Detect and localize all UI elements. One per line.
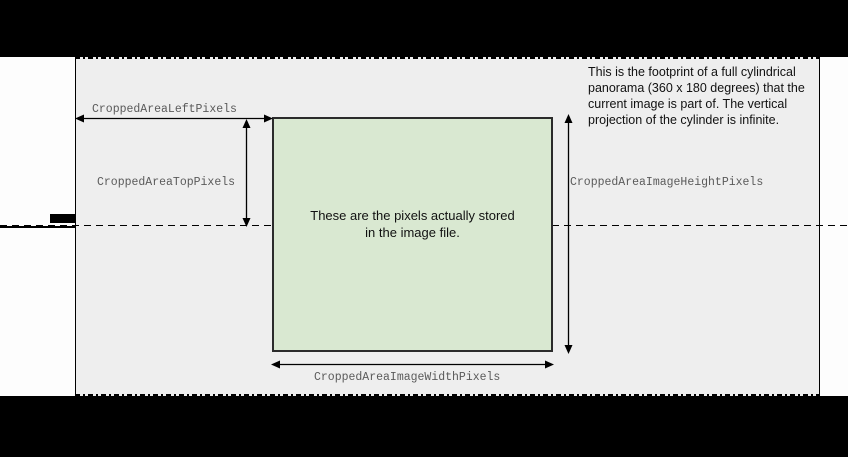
- cropped-area-top-pixels-label: CroppedAreaTopPixels: [97, 176, 235, 189]
- cropped-area-top-pixels-arrow-icon: [241, 119, 252, 227]
- stored-pixels-rectangle: These are the pixels actually stored in …: [272, 117, 553, 352]
- cropped-area-left-pixels-label: CroppedAreaLeftPixels: [92, 103, 237, 116]
- equator-marker-bar-icon: [50, 214, 75, 223]
- stored-pixels-caption-line-1: These are the pixels actually stored: [274, 207, 551, 224]
- panorama-panel-left-border: [75, 57, 76, 396]
- panorama-panel-bottom-border: [75, 394, 820, 396]
- cropped-area-image-width-pixels-arrow-icon: [271, 359, 554, 370]
- diagram-canvas: These are the pixels actually stored in …: [0, 0, 848, 457]
- cropped-area-image-height-pixels-arrow-icon: [563, 114, 574, 354]
- cropped-area-image-height-pixels-label: CroppedAreaImageHeightPixels: [570, 176, 763, 189]
- stored-pixels-caption-line-2: in the image file.: [274, 224, 551, 241]
- stored-pixels-caption: These are the pixels actually stored in …: [274, 207, 551, 241]
- cropped-area-image-width-pixels-label: CroppedAreaImageWidthPixels: [314, 371, 500, 384]
- equator-left-rule: [0, 226, 75, 228]
- panorama-description-text: This is the footprint of a full cylindri…: [588, 64, 824, 128]
- panorama-panel-top-border: [75, 57, 820, 59]
